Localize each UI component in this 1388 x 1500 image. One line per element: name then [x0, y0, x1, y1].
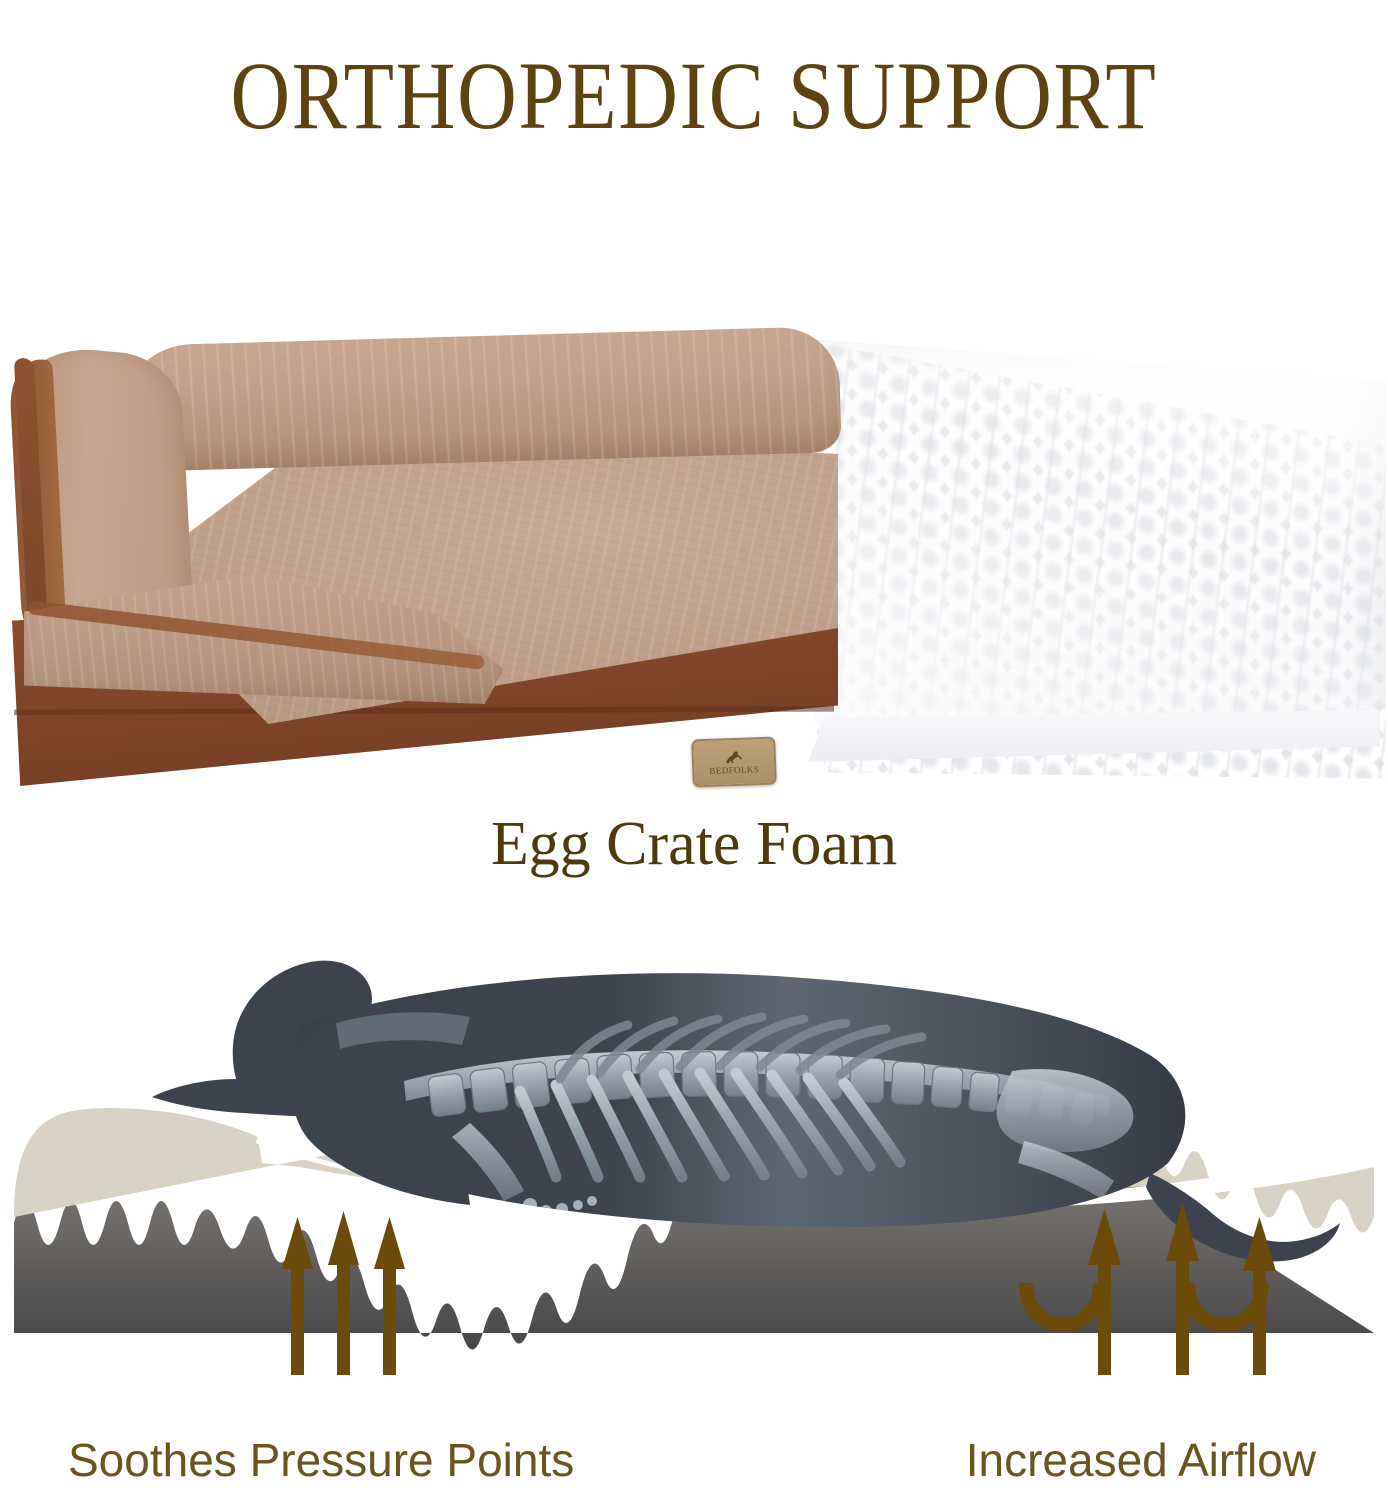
pressure-arrows-group — [282, 1211, 405, 1375]
bed-back-bolster-texture — [122, 326, 841, 472]
page-title: ORTHOPEDIC SUPPORT — [97, 48, 1291, 144]
dog-icon — [723, 749, 746, 766]
product-photo-band — [0, 320, 1388, 800]
brand-logo-patch: BEDFOLKS — [691, 737, 777, 788]
caption-egg-crate-foam: Egg Crate Foam — [0, 812, 1388, 877]
infographic-page: ORTHOPEDIC SUPPORT — [0, 0, 1388, 1500]
cross-section-diagram — [0, 905, 1388, 1375]
foam-highlight-sheen — [790, 330, 1386, 760]
bolster-dog-bed — [6, 328, 846, 788]
label-increased-airflow: Increased Airflow — [966, 1435, 1316, 1486]
label-soothes-pressure-points: Soothes Pressure Points — [68, 1435, 574, 1486]
egg-crate-foam-slab — [790, 330, 1386, 760]
brand-logo-text: BEDFOLKS — [709, 765, 759, 776]
